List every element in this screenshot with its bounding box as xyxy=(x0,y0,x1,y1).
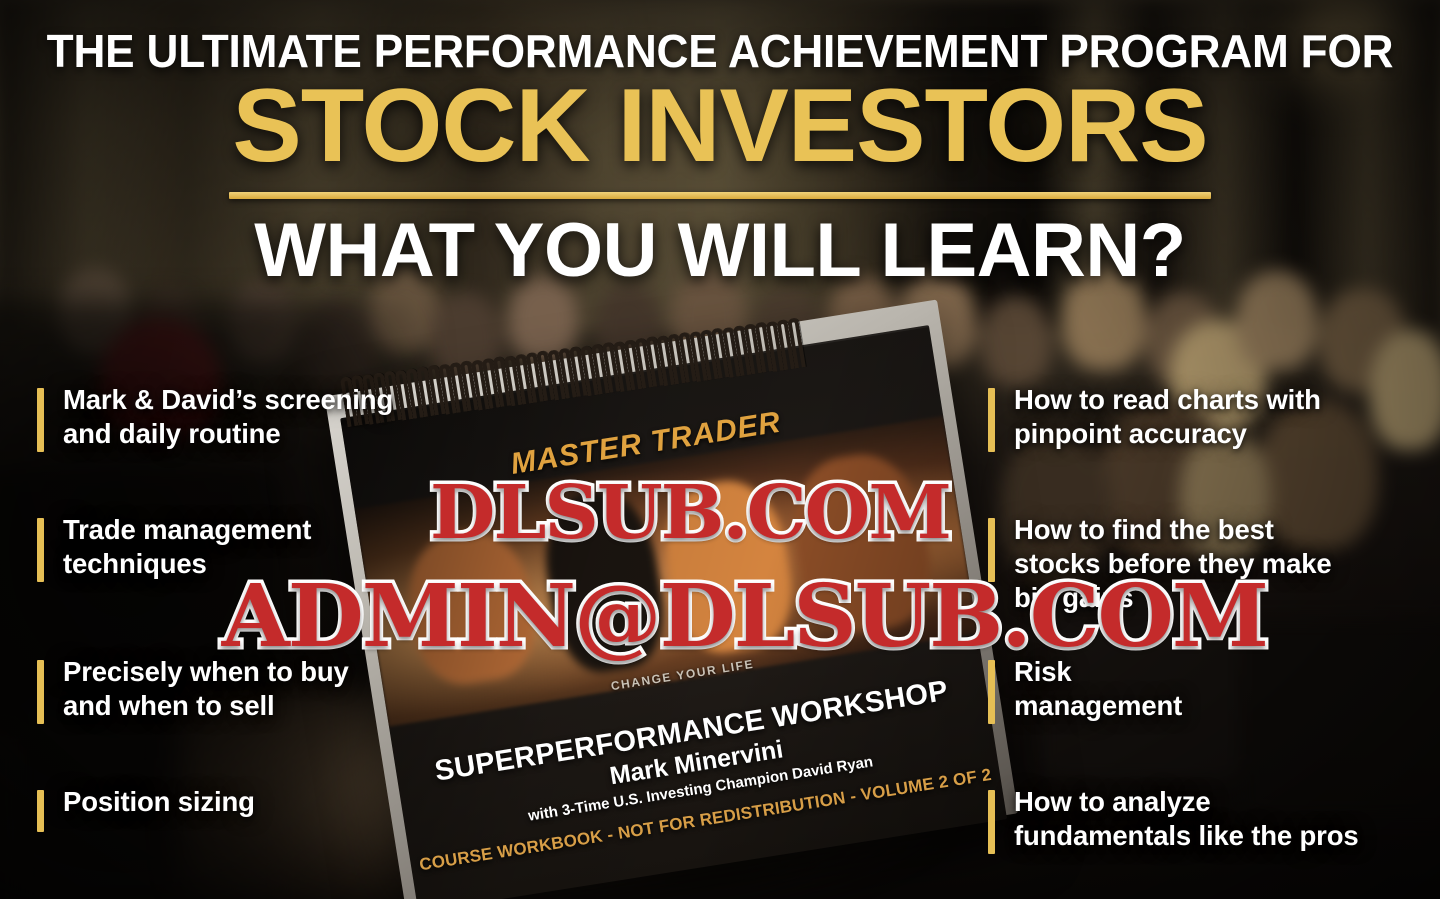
benefit-item-left-4[interactable]: Position sizing xyxy=(37,785,255,832)
bullet-accent-bar-icon xyxy=(988,388,995,452)
benefit-text: Mark & David’s screening and daily routi… xyxy=(63,383,393,451)
bullet-accent-bar-icon xyxy=(37,790,44,832)
promo-banner: MASTER TRADER CHANGE YOUR LIFE SUPERPERF… xyxy=(0,0,1440,899)
header-kicker: THE ULTIMATE PERFORMANCE ACHIEVEMENT PRO… xyxy=(29,24,1411,78)
watermark-email: ADMIN@DLSUB.COM xyxy=(222,566,1267,667)
bullet-accent-bar-icon xyxy=(37,388,44,452)
header-subhead: WHAT YOU WILL LEARN? xyxy=(0,213,1440,289)
benefit-text: Position sizing xyxy=(63,785,255,819)
benefit-text: How to read charts with pinpoint accurac… xyxy=(1014,383,1321,451)
bullet-accent-bar-icon xyxy=(988,660,995,724)
benefit-item-left-1[interactable]: Mark & David’s screening and daily routi… xyxy=(37,383,393,452)
header-headline: STOCK INVESTORS xyxy=(0,74,1440,178)
benefit-item-right-1[interactable]: How to read charts with pinpoint accurac… xyxy=(988,383,1321,452)
bullet-accent-bar-icon xyxy=(37,660,44,724)
benefit-text: How to analyze fundamentals like the pro… xyxy=(1014,785,1359,853)
watermark-site: DLSUB.COM xyxy=(430,470,950,556)
header-divider xyxy=(229,192,1211,199)
header: THE ULTIMATE PERFORMANCE ACHIEVEMENT PRO… xyxy=(0,0,1440,289)
benefit-item-right-4[interactable]: How to analyze fundamentals like the pro… xyxy=(988,785,1359,854)
bullet-accent-bar-icon xyxy=(988,790,995,854)
bullet-accent-bar-icon xyxy=(37,518,44,582)
